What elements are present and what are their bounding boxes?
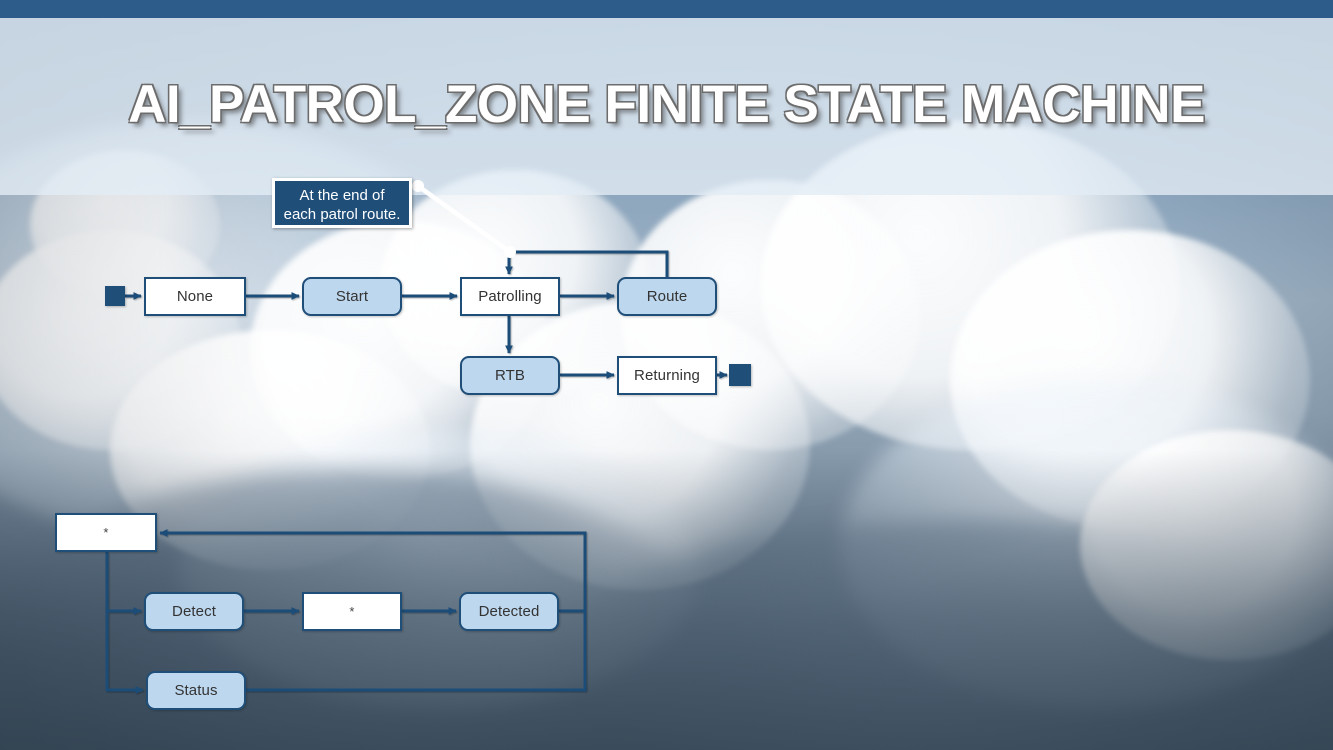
end-terminal-marker (729, 364, 751, 386)
state-node-any-top[interactable]: * (55, 513, 157, 552)
state-node-returning[interactable]: Returning (617, 356, 717, 395)
state-node-patrolling[interactable]: Patrolling (460, 277, 560, 316)
state-node-label: Patrolling (478, 288, 542, 305)
state-node-detected[interactable]: Detected (459, 592, 559, 631)
annotation-callout[interactable]: At the end of each patrol route. (272, 178, 412, 228)
state-node-label: Route (647, 288, 688, 305)
state-node-label: * (103, 525, 108, 540)
state-node-start[interactable]: Start (302, 277, 402, 316)
callout-line-1: At the end of (282, 186, 402, 205)
page-title: AI_PATROL_ZONE FINITE STATE MACHINE (0, 74, 1333, 135)
start-terminal-marker (105, 286, 125, 306)
state-node-label: RTB (495, 367, 525, 384)
state-node-label: Start (336, 288, 368, 305)
state-node-label: Returning (634, 367, 700, 384)
state-node-none[interactable]: None (144, 277, 246, 316)
state-node-label: Detected (479, 603, 540, 620)
state-node-label: Detect (172, 603, 216, 620)
state-node-detect[interactable]: Detect (144, 592, 244, 631)
state-node-route[interactable]: Route (617, 277, 717, 316)
state-node-status[interactable]: Status (146, 671, 246, 710)
state-node-label: Status (174, 682, 217, 699)
top-accent-bar (0, 0, 1333, 18)
state-node-label: None (177, 288, 213, 305)
callout-line-2: each patrol route. (282, 205, 402, 224)
presentation-slide: AI_PATROL_ZONE FINITE STATE MACHINE (0, 0, 1333, 750)
state-node-label: * (349, 604, 354, 619)
state-node-any-mid[interactable]: * (302, 592, 402, 631)
state-node-rtb[interactable]: RTB (460, 356, 560, 395)
